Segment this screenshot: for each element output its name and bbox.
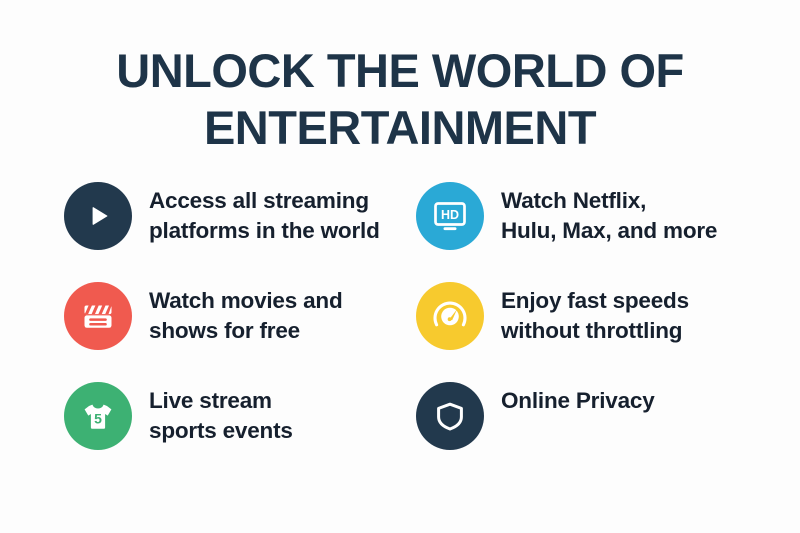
shield-icon-badge (416, 382, 484, 450)
feature-label: Live stream sports events (149, 382, 293, 446)
clapperboard-icon-badge (64, 282, 132, 350)
feature-item-online-privacy: Online Privacy (416, 382, 764, 482)
sports-jersey-icon-badge: 5 (64, 382, 132, 450)
feature-label: Online Privacy (501, 382, 655, 416)
svg-text:HD: HD (441, 208, 459, 222)
promo-poster: Unlock the world of entertainment Access… (0, 0, 800, 533)
feature-label: Watch movies and shows for free (149, 282, 343, 346)
jersey-number-text: 5 (94, 410, 102, 426)
feature-label: Access all streaming platforms in the wo… (149, 182, 380, 246)
feature-label: Watch Netflix, Hulu, Max, and more (501, 182, 717, 246)
play-icon-badge (64, 182, 132, 250)
feature-grid: Access all streaming platforms in the wo… (64, 182, 764, 482)
shield-icon (430, 396, 470, 436)
feature-label: Enjoy fast speeds without throttling (501, 282, 689, 346)
speedometer-icon (429, 295, 471, 337)
play-icon (78, 196, 118, 236)
speedometer-icon-badge (416, 282, 484, 350)
feature-item-fast-speeds: Enjoy fast speeds without throttling (416, 282, 764, 382)
hd-monitor-icon: HD (429, 195, 471, 237)
feature-item-free-movies: Watch movies and shows for free (64, 282, 416, 382)
sports-jersey-icon: 5 (77, 395, 119, 437)
feature-item-live-sports: 5 Live stream sports events (64, 382, 416, 482)
feature-item-streaming-platforms: Access all streaming platforms in the wo… (64, 182, 416, 282)
feature-item-hd-streaming-services: HD Watch Netflix, Hulu, Max, and more (416, 182, 764, 282)
page-title: Unlock the world of entertainment (0, 42, 800, 156)
hd-monitor-icon-badge: HD (416, 182, 484, 250)
clapperboard-icon (78, 296, 118, 336)
